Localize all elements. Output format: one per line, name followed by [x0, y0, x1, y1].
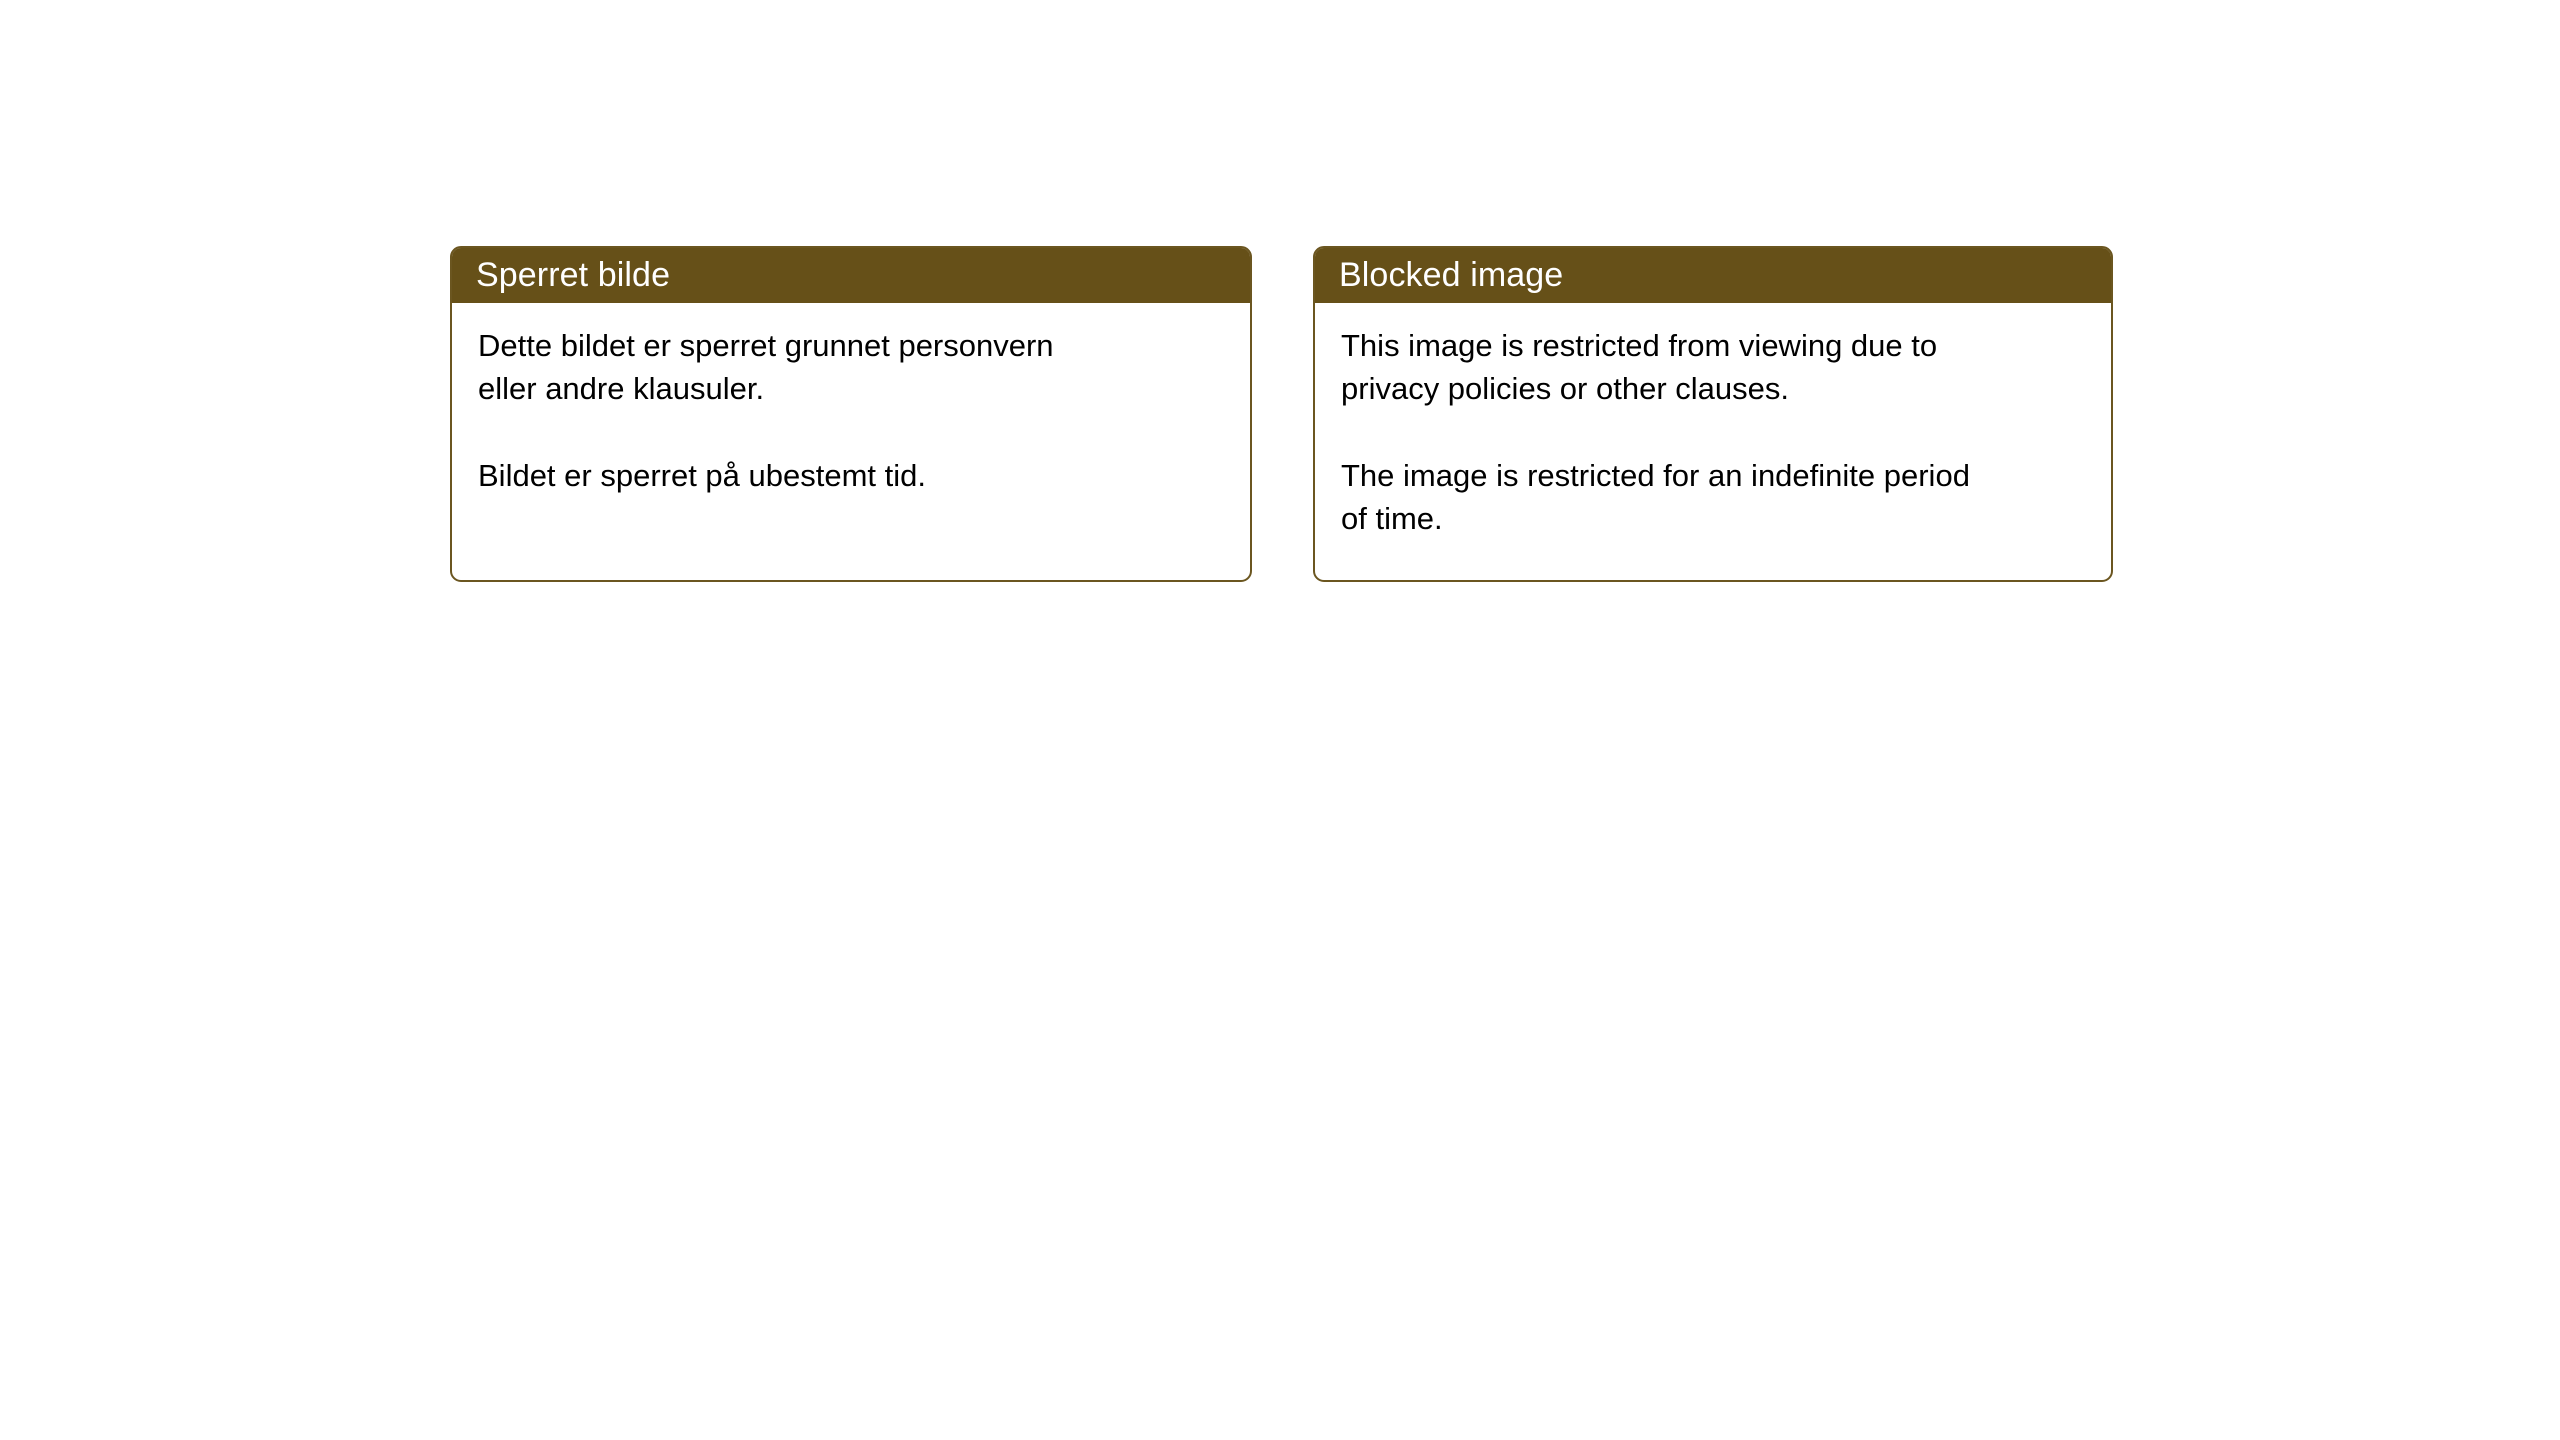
blocked-image-card-norwegian: Sperret bilde Dette bildet er sperret gr… — [450, 246, 1252, 582]
card-header-norwegian: Sperret bilde — [450, 246, 1252, 303]
page-canvas: Sperret bilde Dette bildet er sperret gr… — [0, 0, 2560, 1440]
card-paragraph-reason-english: This image is restricted from viewing du… — [1341, 324, 2087, 410]
card-paragraph-reason-norwegian: Dette bildet er sperret grunnet personve… — [478, 324, 1226, 410]
card-body-norwegian: Dette bildet er sperret grunnet personve… — [452, 303, 1250, 497]
blocked-image-notice-row: Sperret bilde Dette bildet er sperret gr… — [450, 246, 2113, 582]
card-paragraph-duration-norwegian: Bildet er sperret på ubestemt tid. — [478, 454, 1226, 497]
blocked-image-card-english: Blocked image This image is restricted f… — [1313, 246, 2113, 582]
card-title-norwegian: Sperret bilde — [476, 256, 670, 294]
card-body-english: This image is restricted from viewing du… — [1315, 303, 2111, 540]
card-paragraph-duration-english: The image is restricted for an indefinit… — [1341, 454, 2087, 540]
card-title-english: Blocked image — [1339, 256, 1563, 294]
card-header-english: Blocked image — [1313, 246, 2113, 303]
